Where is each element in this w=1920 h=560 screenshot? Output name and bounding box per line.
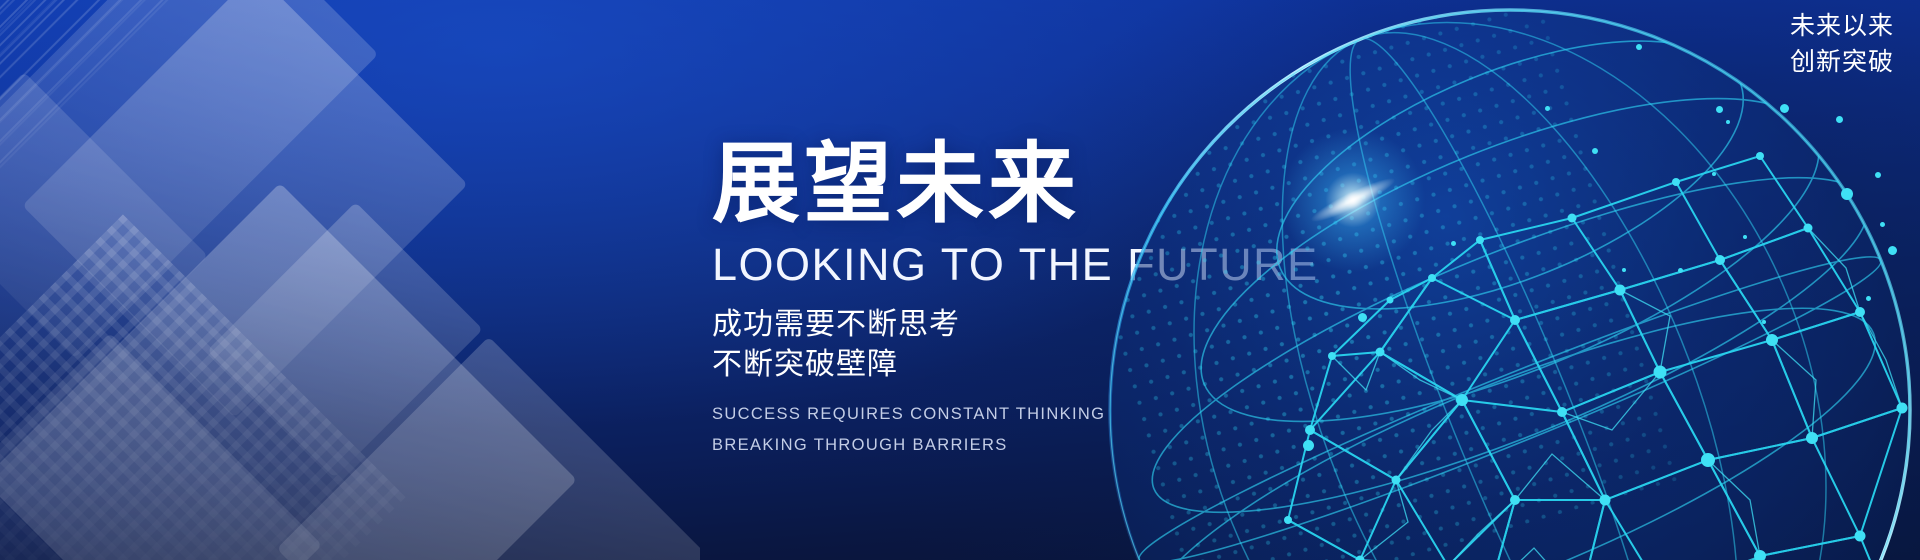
promo-banner: 展望未来 LOOKING TO THE FUTURE 成功需要不断思考 不断突破… <box>0 0 1920 560</box>
left-geometric-decoration <box>0 0 700 560</box>
globe-svg <box>1060 0 1920 560</box>
wireframe-network-globe <box>1060 0 1920 560</box>
